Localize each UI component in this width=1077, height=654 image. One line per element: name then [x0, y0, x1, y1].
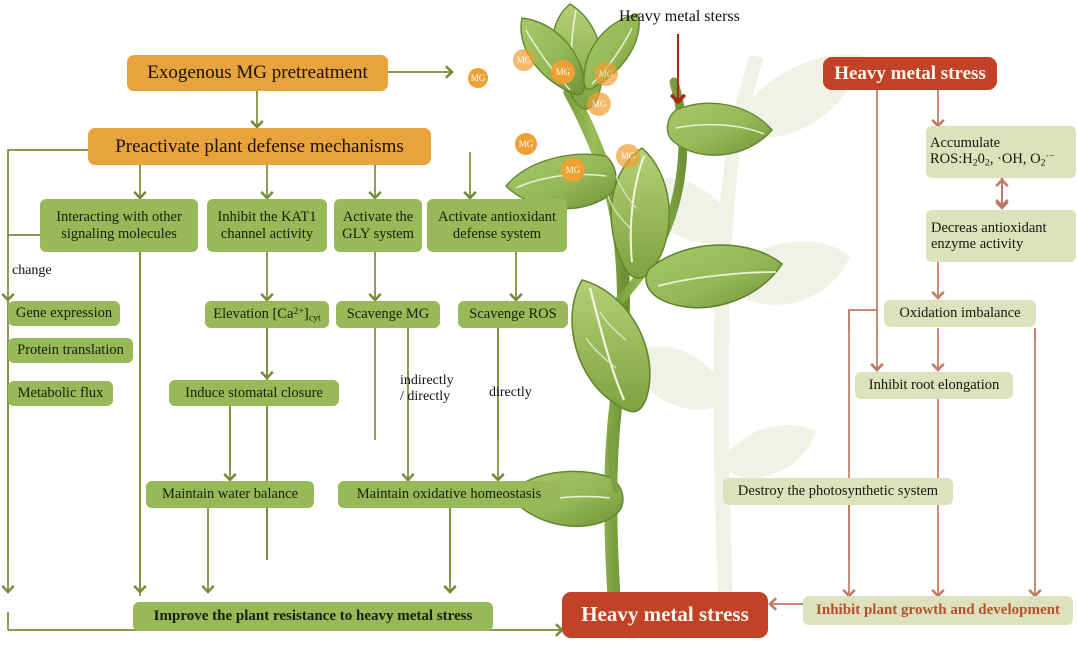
inhibit-root-elongation-box[interactable]: Inhibit root elongation	[855, 372, 1013, 399]
directly-line: / directly	[400, 389, 454, 405]
mg-molecule: MG	[616, 144, 640, 168]
mg-label: MG	[621, 151, 636, 161]
oxidation-imbalance-box[interactable]: Oxidation imbalance	[884, 300, 1036, 327]
change-label: change	[12, 263, 52, 279]
effect-scavenge-ros[interactable]: Scavenge ROS	[458, 301, 568, 328]
improve-plant-resistance-box[interactable]: Improve the plant resistance to heavy me…	[133, 602, 493, 631]
inhibit-plant-growth-box[interactable]: Inhibit plant growth and development	[803, 596, 1073, 625]
decrease-antioxidant-enzyme-box[interactable]: Decreas antioxidant enzyme activity	[926, 210, 1076, 262]
mechanism-interacting-signaling[interactable]: Interacting with other signaling molecul…	[40, 199, 198, 252]
outcome-maintain-water-balance[interactable]: Maintain water balance	[146, 481, 314, 508]
destroy-photosynthetic-system-box[interactable]: Destroy the photosynthetic system	[723, 478, 953, 505]
mg-label: MG	[471, 73, 486, 83]
mg-molecule: MG	[551, 60, 575, 84]
indirectly-directly-label: indirectly / directly	[400, 373, 454, 405]
mg-molecule: MG	[594, 62, 618, 86]
mg-molecule: MG	[515, 133, 537, 155]
heavy-metal-stress-top-label: Heavy metal sterss	[619, 8, 740, 26]
mg-label: MG	[517, 55, 532, 65]
heavy-metal-stress-right-box[interactable]: Heavy metal stress	[823, 57, 997, 90]
output-metabolic-flux[interactable]: Metabolic flux	[8, 381, 113, 406]
accumulate-text: Accumulate ROS:H202, ·OH, O2·−	[930, 135, 1054, 169]
exogenous-mg-pretreatment-box[interactable]: Exogenous MG pretreatment	[127, 55, 388, 91]
outcome-maintain-oxidative-homeostasis[interactable]: Maintain oxidative homeostasis	[338, 481, 560, 508]
diagram-canvas: MG MG MG MG MG MG MG MG Heavy metal ster…	[0, 0, 1077, 654]
directly-label: directly	[489, 385, 532, 401]
accumulate-ros-box[interactable]: Accumulate ROS:H202, ·OH, O2·−	[926, 126, 1076, 178]
output-protein-translation[interactable]: Protein translation	[8, 338, 133, 363]
mg-label: MG	[592, 99, 607, 109]
indirectly-line: indirectly	[400, 373, 454, 389]
mg-molecule: MG	[513, 49, 535, 71]
mg-label: MG	[566, 165, 581, 175]
mg-molecule: MG	[561, 158, 585, 182]
effect-elevation-calcium[interactable]: Elevation [Ca2+]cyt	[205, 301, 329, 328]
output-gene-expression[interactable]: Gene expression	[8, 301, 120, 326]
mg-label: MG	[599, 69, 614, 79]
heavy-metal-stress-center-box[interactable]: Heavy metal stress	[562, 592, 768, 638]
mg-molecule: MG	[587, 92, 611, 116]
mechanism-inhibit-kat1[interactable]: Inhibit the KAT1 channel activity	[207, 199, 327, 252]
outcome-induce-stomatal-closure[interactable]: Induce stomatal closure	[169, 380, 339, 406]
mechanism-activate-antioxidant[interactable]: Activate antioxidant defense system	[427, 199, 567, 252]
effect-scavenge-mg[interactable]: Scavenge MG	[336, 301, 440, 328]
elevation-text: Elevation [Ca2+]cyt	[213, 306, 321, 323]
preactivate-defense-box[interactable]: Preactivate plant defense mechanisms	[88, 128, 431, 165]
mg-label: MG	[519, 139, 534, 149]
mg-molecule: MG	[468, 68, 488, 88]
mg-label: MG	[556, 67, 571, 77]
mechanism-activate-gly[interactable]: Activate the GLY system	[334, 199, 422, 252]
